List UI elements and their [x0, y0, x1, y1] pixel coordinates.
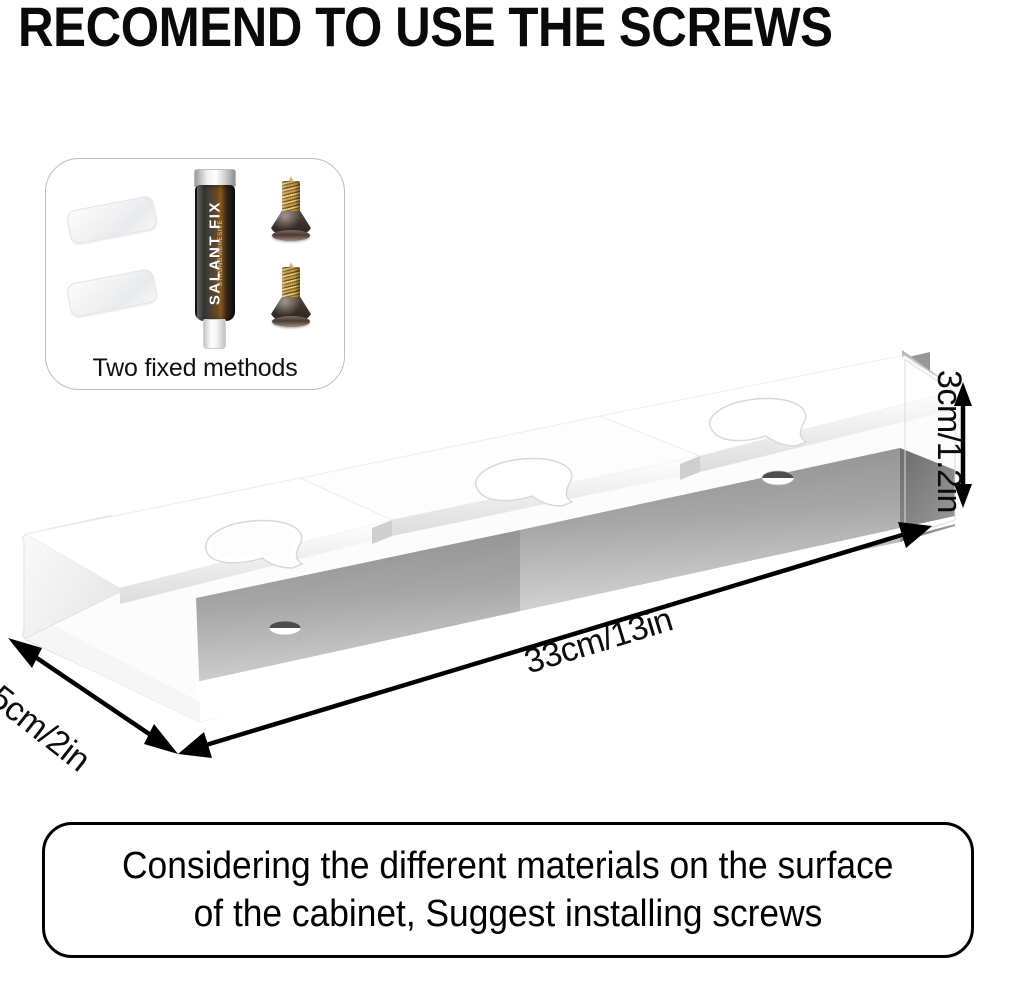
screw-hole [269, 621, 301, 635]
glue-tube-icon: SALANT FIX STRONG ADHESIVE [186, 169, 242, 351]
screw-hole [762, 471, 794, 485]
bottom-note-line-1: Considering the different materials on t… [122, 842, 893, 890]
screw-icon [270, 267, 312, 329]
tube-body: SALANT FIX STRONG ADHESIVE [195, 185, 235, 321]
bottom-note-line-2: of the cabinet, Suggest installing screw… [194, 890, 823, 938]
screw-icon [270, 181, 312, 243]
infographic-root: RECOMEND TO USE THE SCREWS SALANT FIX ST… [0, 0, 1017, 986]
dimension-height-label: 3cm/1.2in [929, 370, 968, 513]
tube-sub-label: STRONG ADHESIVE [218, 220, 224, 286]
bottom-note-box: Considering the different materials on t… [42, 822, 974, 958]
adhesive-pad-icon [66, 268, 159, 318]
page-title: RECOMEND TO USE THE SCREWS [18, 0, 833, 58]
adhesive-pad-icon [66, 195, 159, 245]
screw-rim [272, 230, 310, 241]
screw-rim [272, 316, 310, 327]
product-illustration [0, 330, 1017, 780]
tray-assembly [22, 356, 963, 722]
